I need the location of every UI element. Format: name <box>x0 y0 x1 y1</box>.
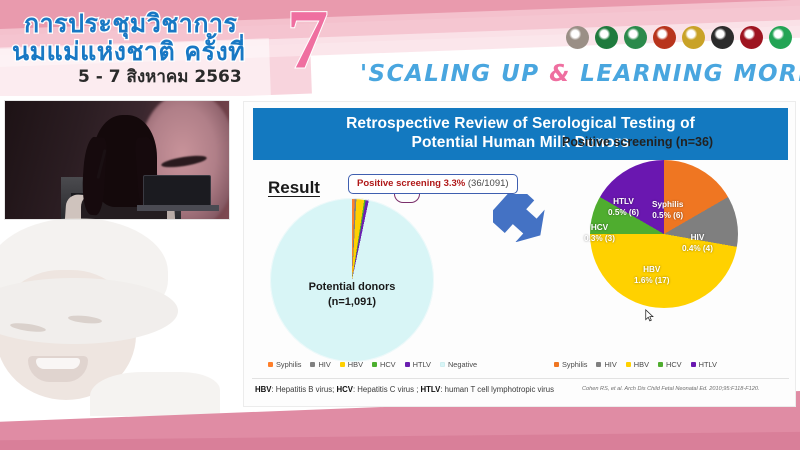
legend-item-hbv: HBV <box>340 360 363 369</box>
positive-screening-callout: Positive screening 3.3% (36/1091) <box>348 174 518 194</box>
legend-item-hiv: HIV <box>596 360 616 369</box>
abbr-hbv: HBV <box>255 385 271 394</box>
legend-swatch-htlv <box>691 362 696 367</box>
legend-label-negative: Negative <box>448 360 477 369</box>
legend-label-hiv: HIV <box>604 360 616 369</box>
legend-item-htlv: HTLV <box>405 360 431 369</box>
logo-thai-breastfeeding-centre-icon <box>566 26 589 49</box>
slice-name-syphilis: Syphilis <box>652 200 683 211</box>
slide-title-bar: Retrospective Review of Serological Test… <box>253 108 788 160</box>
pie-chart-potential-donors: Potential donors (n=1,091) <box>270 198 434 362</box>
pie-left-center-label: Potential donors (n=1,091) <box>270 280 434 310</box>
abbr-htlv: HTLV <box>421 385 441 394</box>
baby-body <box>90 372 220 416</box>
logo-green-shield-1-icon <box>595 26 618 49</box>
legend-swatch-hcv <box>658 362 663 367</box>
pie-left-subtitle: (n=1,091) <box>270 295 434 310</box>
slice-value-htlv: 0.5% (6) <box>608 208 639 219</box>
baby-watermark-image <box>0 216 234 416</box>
callout-fraction: (36/1091) <box>465 178 508 189</box>
tagline-ampersand: & <box>549 61 571 87</box>
legend-swatch-syphilis <box>554 362 559 367</box>
result-heading: Result <box>268 178 320 198</box>
legend-item-hiv: HIV <box>310 360 330 369</box>
tagline-part-1: 'SCALING UP <box>360 61 549 87</box>
slice-name-htlv: HTLV <box>608 197 639 208</box>
pie-chart-positive-screening: Syphilis 0.5% (6) HIV 0.4% (4) HBV 1.6% … <box>590 160 738 308</box>
abbr-hcv: HCV <box>336 385 352 394</box>
legend-item-syphilis: Syphilis <box>268 360 301 369</box>
legend-label-syphilis: Syphilis <box>562 360 587 369</box>
mouse-cursor <box>645 309 654 322</box>
logo-black-circle-emblem-icon <box>711 26 734 49</box>
tagline-part-2: LEARNING MORE' <box>571 61 800 87</box>
slice-value-hcv: 0.3% (3) <box>584 234 615 245</box>
legend-label-htlv: HTLV <box>699 360 717 369</box>
edition-number: 7 <box>286 0 329 82</box>
legend-left-pie: SyphilisHIVHBVHCVHTLVNegative <box>268 360 477 369</box>
legend-item-syphilis: Syphilis <box>554 360 587 369</box>
legend-swatch-negative <box>440 362 445 367</box>
legend-item-hcv: HCV <box>658 360 682 369</box>
slide-screenshot: 7 การประชุมวิชาการ นมแม่แห่งชาติ ครั้งที… <box>0 0 800 450</box>
blue-arrow-icon <box>493 194 549 242</box>
legend-swatch-hbv <box>340 362 345 367</box>
conference-tagline: 'SCALING UP & LEARNING MORE' <box>360 61 800 87</box>
logo-thaihealth-sss-icon <box>769 26 792 49</box>
legend-swatch-hcv <box>372 362 377 367</box>
baby-teeth <box>36 358 80 369</box>
legend-swatch-htlv <box>405 362 410 367</box>
pie-right-title: Positive screening (n=36) <box>562 135 713 149</box>
pie-left-title: Potential donors <box>270 280 434 295</box>
legend-label-hbv: HBV <box>634 360 649 369</box>
legend-swatch-syphilis <box>268 362 273 367</box>
logo-red-crest-icon <box>740 26 763 49</box>
legend-swatch-hbv <box>626 362 631 367</box>
slice-name-hcv: HCV <box>584 223 615 234</box>
legend-item-negative: Negative <box>440 360 477 369</box>
presenter-video-thumbnail[interactable] <box>4 100 230 220</box>
slice-name-hiv: HIV <box>682 233 713 244</box>
slide-title-line-1: Retrospective Review of Serological Test… <box>346 115 695 134</box>
legend-right-pie: SyphilisHIVHBVHCVHTLV <box>554 360 717 369</box>
pie-slice-label-hcv: HCV 0.3% (3) <box>584 223 615 244</box>
logo-green-shield-2-icon <box>624 26 647 49</box>
logo-royal-crest-blue-icon <box>682 26 705 49</box>
logo-royal-crest-orange-icon <box>653 26 676 49</box>
slice-value-hbv: 1.6% (17) <box>634 276 670 287</box>
callout-percentage: Positive screening 3.3% <box>357 178 465 189</box>
sponsor-logos <box>566 26 792 49</box>
pie-slice-label-htlv: HTLV 0.5% (6) <box>608 197 639 218</box>
legend-label-hcv: HCV <box>666 360 682 369</box>
legend-label-syphilis: Syphilis <box>276 360 301 369</box>
legend-swatch-hiv <box>596 362 601 367</box>
slice-value-hiv: 0.4% (4) <box>682 244 713 255</box>
legend-item-hbv: HBV <box>626 360 649 369</box>
legend-swatch-hiv <box>310 362 315 367</box>
slice-name-hbv: HBV <box>634 265 670 276</box>
legend-label-hiv: HIV <box>318 360 330 369</box>
legend-item-htlv: HTLV <box>691 360 717 369</box>
slice-value-syphilis: 0.5% (6) <box>652 211 683 222</box>
conference-header-banner: 7 การประชุมวิชาการ นมแม่แห่งชาติ ครั้งที… <box>0 0 800 96</box>
legend-label-hcv: HCV <box>380 360 396 369</box>
conference-date: 5 - 7 สิงหาคม 2563 <box>78 63 242 90</box>
abbreviation-footnote: HBV: Hepatitis B virus; HCV: Hepatitis C… <box>255 385 554 394</box>
legend-item-hcv: HCV <box>372 360 396 369</box>
laptop <box>143 175 211 207</box>
footer-divider <box>252 378 789 379</box>
pie-slice-label-syphilis: Syphilis 0.5% (6) <box>652 200 683 221</box>
pie-slice-label-hbv: HBV 1.6% (17) <box>634 265 670 286</box>
laptop-base <box>137 205 219 211</box>
legend-label-htlv: HTLV <box>413 360 431 369</box>
source-citation: Cohen RS, et al. Arch Dis Child Fetal Ne… <box>582 386 760 392</box>
legend-label-hbv: HBV <box>348 360 363 369</box>
pie-slice-label-hiv: HIV 0.4% (4) <box>682 233 713 254</box>
presentation-slide: Retrospective Review of Serological Test… <box>243 101 796 407</box>
